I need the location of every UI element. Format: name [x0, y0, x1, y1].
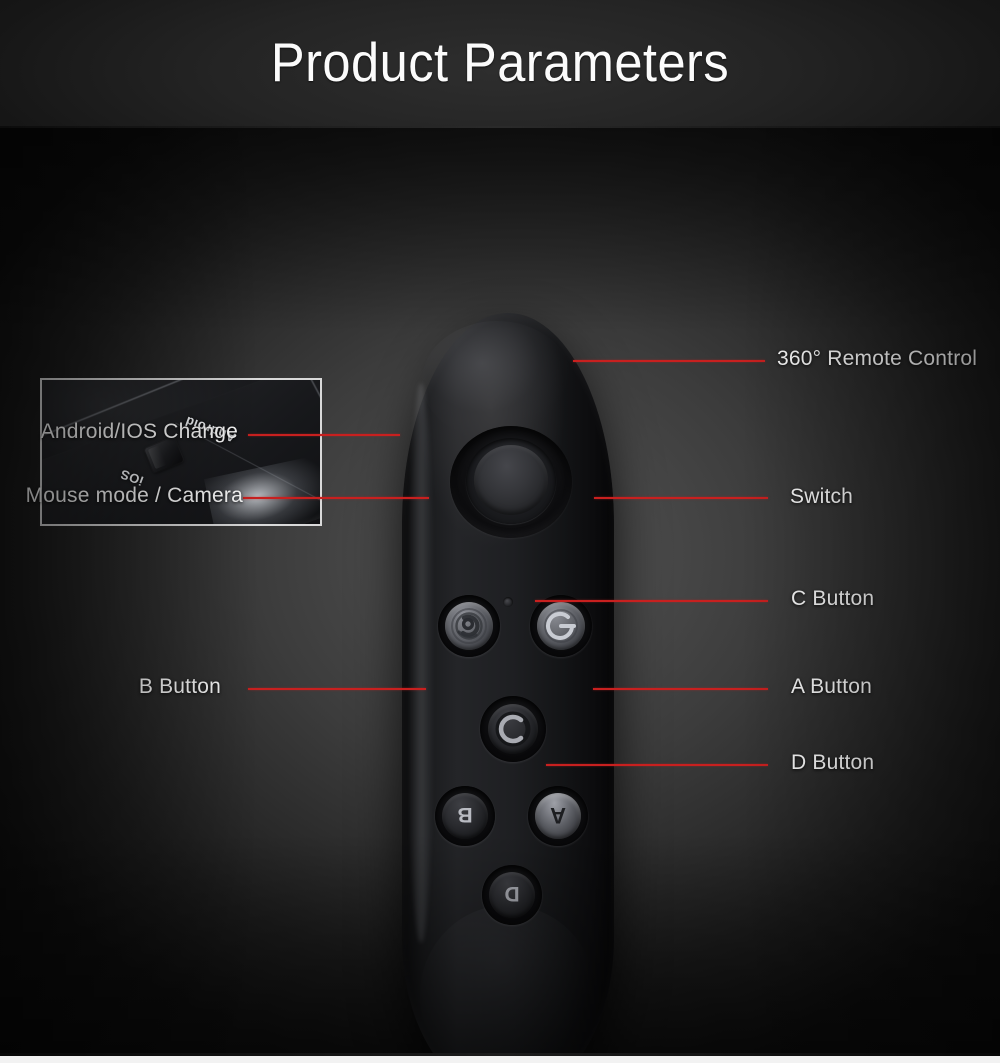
- leader-line-d-button: [546, 764, 768, 766]
- button-cap: D: [489, 872, 535, 918]
- svg-text:D: D: [504, 882, 519, 905]
- letter-b-icon: B: [442, 793, 488, 839]
- button-cap: A: [535, 793, 581, 839]
- callout-label-mouse-mode-camera: Mouse mode / Camera: [26, 484, 243, 508]
- joystick-ring: [466, 438, 556, 524]
- letter-d-icon: D: [489, 872, 535, 918]
- footer-band: [0, 1056, 1000, 1063]
- header-band: Product Parameters: [0, 0, 1000, 128]
- leader-line-switch: [594, 497, 768, 499]
- joystick-well: [450, 426, 572, 538]
- page-title: Product Parameters: [40, 30, 960, 94]
- leader-line-c-button: [535, 600, 768, 602]
- letter-c-icon: [488, 704, 538, 754]
- remote-controller: B A D: [402, 313, 614, 1056]
- joystick-thumbstick[interactable]: [474, 445, 548, 515]
- power-icon: [537, 602, 585, 650]
- callout-label-switch: Switch: [790, 485, 853, 509]
- a-button[interactable]: A: [528, 786, 588, 846]
- button-cap: [537, 602, 585, 650]
- leader-line-360-remote-control: [573, 360, 765, 362]
- mouse-camera-button[interactable]: [438, 595, 500, 657]
- b-button[interactable]: B: [435, 786, 495, 846]
- callout-label-d-button: D Button: [791, 751, 874, 775]
- callout-label-b-button: B Button: [139, 675, 221, 699]
- mouse-camera-icon: [445, 602, 493, 650]
- d-button[interactable]: D: [482, 865, 542, 925]
- product-stage: iOS Android: [0, 128, 1000, 1056]
- svg-text:A: A: [550, 803, 566, 828]
- button-cap: [445, 602, 493, 650]
- remote-body-shell: [402, 313, 614, 1056]
- leader-line-a-button: [593, 688, 768, 690]
- callout-label-android-ios-change: Android/IOS Change: [41, 420, 238, 444]
- callout-label-a-button: A Button: [791, 675, 872, 699]
- callout-label-remote-control-360: 360° Remote Control: [777, 347, 977, 371]
- product-parameters-infographic: Product Parameters iOS Android: [0, 0, 1000, 1063]
- c-button[interactable]: [480, 696, 546, 762]
- callout-label-c-button: C Button: [791, 587, 874, 611]
- letter-a-icon: A: [535, 793, 581, 839]
- status-led: [503, 597, 513, 607]
- button-cap: B: [442, 793, 488, 839]
- button-cap: [488, 704, 538, 754]
- svg-text:B: B: [457, 803, 472, 826]
- leader-line-mouse-mode-camera: [243, 497, 429, 499]
- leader-line-b-button: [248, 688, 426, 690]
- power-switch-button[interactable]: [530, 595, 592, 657]
- leader-line-android-ios-change: [248, 434, 400, 436]
